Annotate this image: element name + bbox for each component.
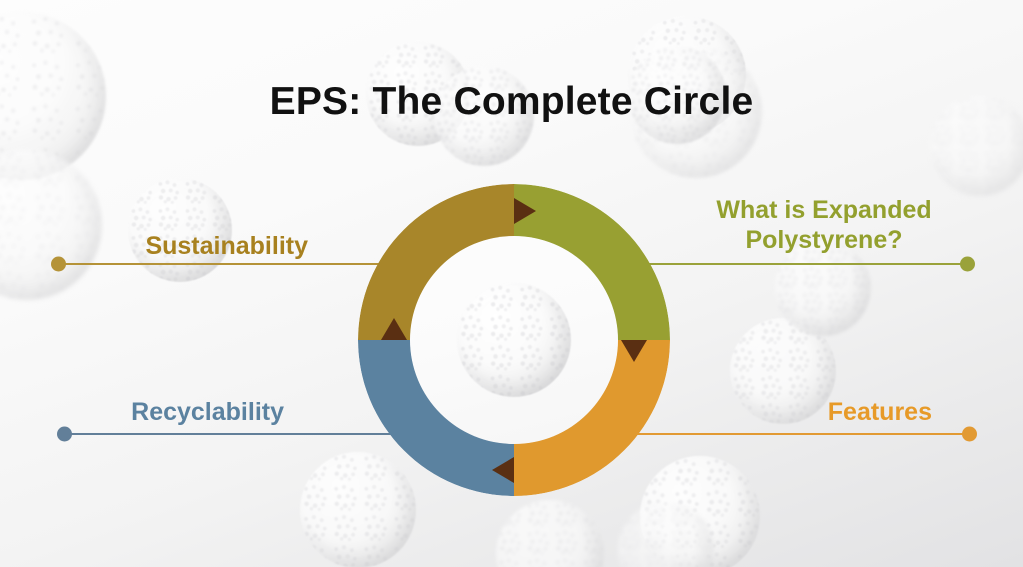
center-foam-bead-icon xyxy=(457,283,571,397)
label-sustainability[interactable]: Sustainability xyxy=(8,232,308,262)
arrow-right-icon xyxy=(514,198,536,224)
foam-bead-icon xyxy=(618,502,714,567)
label-recyclability[interactable]: Recyclability xyxy=(0,398,284,428)
connector-dot-expanded-polystyrene xyxy=(960,257,975,272)
connector-dot-recyclability xyxy=(57,427,72,442)
foam-bead-icon xyxy=(496,500,604,567)
foam-bead-icon xyxy=(0,150,102,300)
label-expanded-polystyrene[interactable]: What is Expanded Polystyrene? xyxy=(674,196,974,255)
foam-bead-icon xyxy=(128,178,232,282)
arrow-up-icon xyxy=(381,318,407,340)
label-features[interactable]: Features xyxy=(700,398,932,428)
connector-dot-features xyxy=(962,427,977,442)
arrow-down-icon xyxy=(621,340,647,362)
page-title: EPS: The Complete Circle xyxy=(0,80,1023,124)
slide-canvas: EPS: The Complete Circle Sustainability … xyxy=(0,0,1023,567)
arrow-left-icon xyxy=(492,457,514,483)
